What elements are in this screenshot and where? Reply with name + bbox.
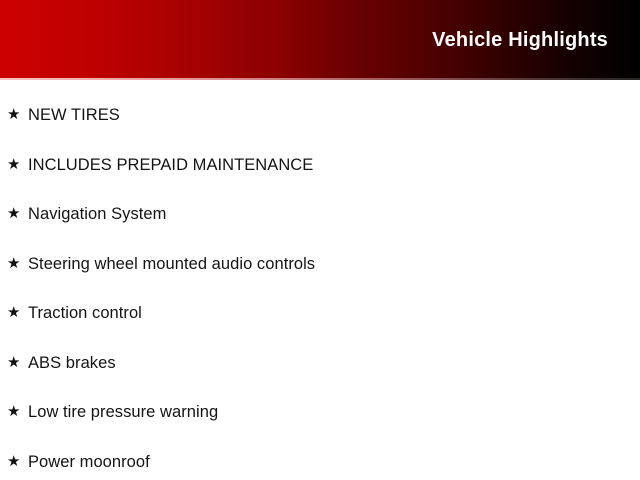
vehicle-highlights-page: Vehicle Highlights ★ NEW TIRES ★ INCLUDE… (0, 0, 640, 480)
star-icon: ★ (7, 404, 28, 419)
highlight-label: Navigation System (28, 205, 640, 224)
highlight-label: NEW TIRES (28, 106, 640, 125)
list-item: ★ INCLUDES PREPAID MAINTENANCE (0, 141, 640, 191)
vehicle-highlights-list: ★ NEW TIRES ★ INCLUDES PREPAID MAINTENAN… (0, 80, 640, 480)
header-banner: Vehicle Highlights (0, 0, 640, 80)
highlight-label: Low tire pressure warning (28, 403, 640, 422)
list-item: ★ Power moonroof (0, 438, 640, 480)
highlight-label: ABS brakes (28, 354, 640, 373)
star-icon: ★ (7, 454, 28, 469)
highlight-label: Traction control (28, 304, 640, 323)
list-item: ★ NEW TIRES (0, 91, 640, 141)
star-icon: ★ (7, 305, 28, 320)
list-item: ★ ABS brakes (0, 339, 640, 389)
list-item: ★ Traction control (0, 289, 640, 339)
star-icon: ★ (7, 206, 28, 221)
list-item: ★ Navigation System (0, 190, 640, 240)
star-icon: ★ (7, 256, 28, 271)
star-icon: ★ (7, 157, 28, 172)
page-title: Vehicle Highlights (432, 30, 608, 50)
list-item: ★ Steering wheel mounted audio controls (0, 240, 640, 290)
highlight-label: INCLUDES PREPAID MAINTENANCE (28, 156, 640, 175)
star-icon: ★ (7, 107, 28, 122)
highlight-label: Power moonroof (28, 453, 640, 472)
star-icon: ★ (7, 355, 28, 370)
list-item: ★ Low tire pressure warning (0, 388, 640, 438)
highlight-label: Steering wheel mounted audio controls (28, 255, 640, 274)
